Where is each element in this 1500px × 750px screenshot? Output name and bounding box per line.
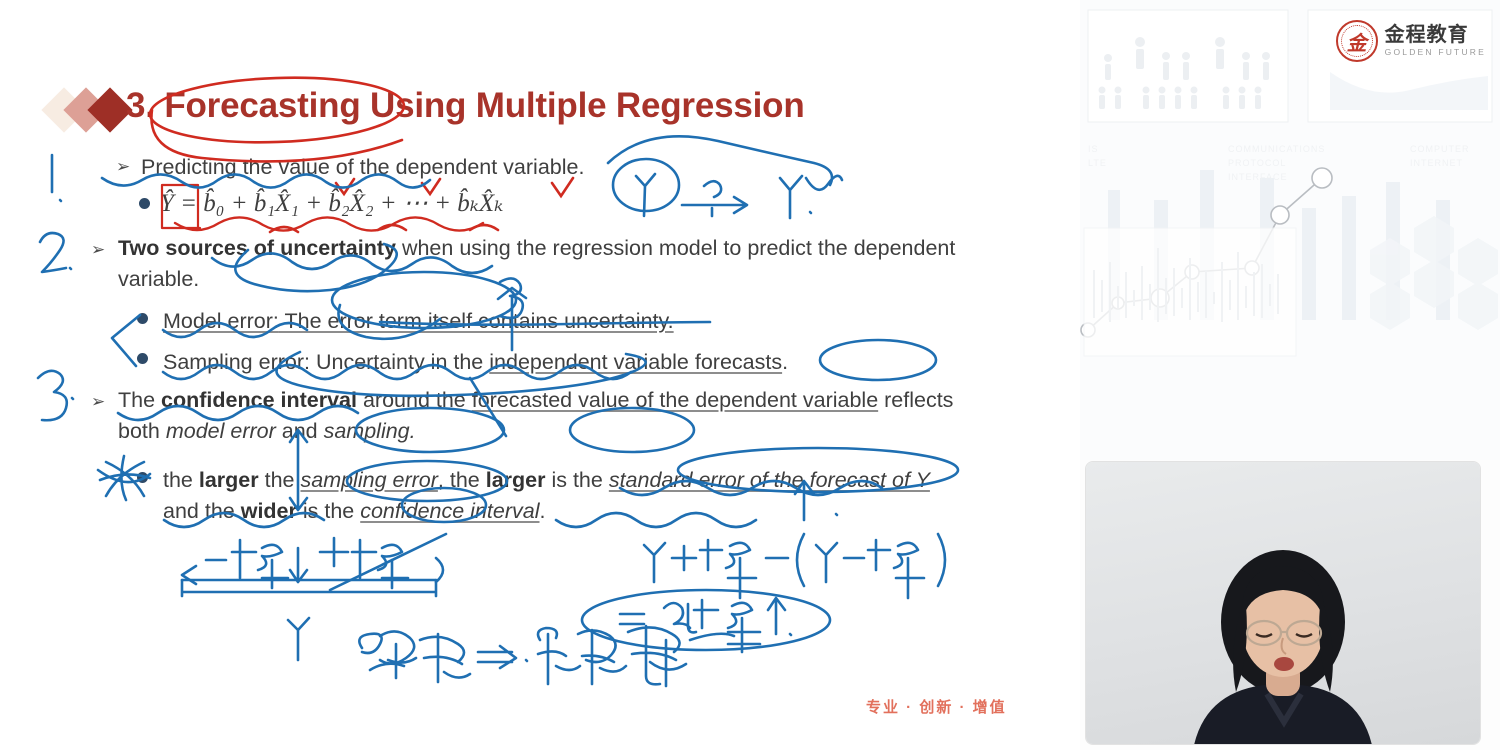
model-error-rest: The error term itself contains uncertain… [279,309,674,333]
data-point [1271,206,1289,224]
mouth [1274,657,1294,671]
logo-english-text: GOLDEN FUTURE [1385,47,1486,57]
slide-body: ➢ Predicting the value of the dependent … [0,0,1080,750]
instructor-video-feed[interactable] [1086,462,1480,744]
presentation-slide: 3. Forecasting Using Multiple Regression… [0,0,1080,750]
logo-seal-glyph: 金 [1347,27,1367,56]
sub-bullet-dot-4 [137,472,148,483]
svg-text:INTERFACE: INTERFACE [1228,172,1288,182]
data-point [1312,168,1332,188]
logo-text-block: 金程教育 GOLDEN FUTURE [1385,25,1486,57]
point-4-text: the larger the sampling error, the large… [163,465,968,527]
sub-bullet-dot-3 [137,353,148,364]
decorative-background: IS LTE COMMUNICATIONS PROTOCOL INTERFACE… [1080,0,1500,460]
svg-text:COMMUNICATIONS: COMMUNICATIONS [1228,144,1325,154]
logo-chinese-text: 金程教育 [1385,25,1486,46]
instructor-figure [1168,526,1398,744]
bullet-arrow-3: ➢ [91,392,105,412]
slide-screenshot: 3. Forecasting Using Multiple Regression… [0,0,1500,750]
logo-seal-icon: 金 [1336,20,1378,62]
svg-text:LTE: LTE [1088,158,1107,168]
model-error-text: Model error: The error term itself conta… [163,306,963,337]
bullet-arrow-2: ➢ [91,240,105,260]
svg-text:COMPUTER: COMPUTER [1410,144,1470,154]
sub-bullet-dot-1 [139,198,150,209]
svg-text:INTERNET: INTERNET [1410,158,1463,168]
bullet-arrow-1: ➢ [116,157,130,177]
sampling-error-text: Sampling error: Uncertainty in the indep… [163,347,983,378]
right-side-panel: IS LTE COMMUNICATIONS PROTOCOL INTERFACE… [1080,0,1500,750]
point-3-text: The confidence interval around the forec… [118,385,963,447]
svg-text:PROTOCOL: PROTOCOL [1228,158,1286,168]
brand-logo: 金 金程教育 GOLDEN FUTURE [1336,20,1486,62]
sub-bullet-dot-2 [137,313,148,324]
formula-text: Ŷ = b̂₀ + b̂₁X̂₁ + b̂₂X̂₂ + ⋯ + b̂ₖX̂ₖ [160,190,503,217]
sampling-error-label: Sampling error: [163,350,310,374]
point-3-lead: confidence interval [161,388,357,412]
background-graphics: IS LTE COMMUNICATIONS PROTOCOL INTERFACE… [1080,0,1500,460]
point-2-text: Two sources of uncertainty when using th… [118,233,978,295]
point-2-lead: Two sources of uncertainty [118,236,396,260]
regression-formula: Ŷ = b̂₀ + b̂₁X̂₁ + b̂₂X̂₂ + ⋯ + b̂ₖX̂ₖ [160,188,503,218]
sampling-error-rest: Uncertainty in the independent variable … [310,350,788,374]
point-1-text: Predicting the value of the dependent va… [141,152,841,183]
svg-text:IS: IS [1088,144,1099,154]
model-error-label: Model error: [163,309,279,333]
slide-tagline: 专业 · 创新 · 增值 [866,696,1007,717]
